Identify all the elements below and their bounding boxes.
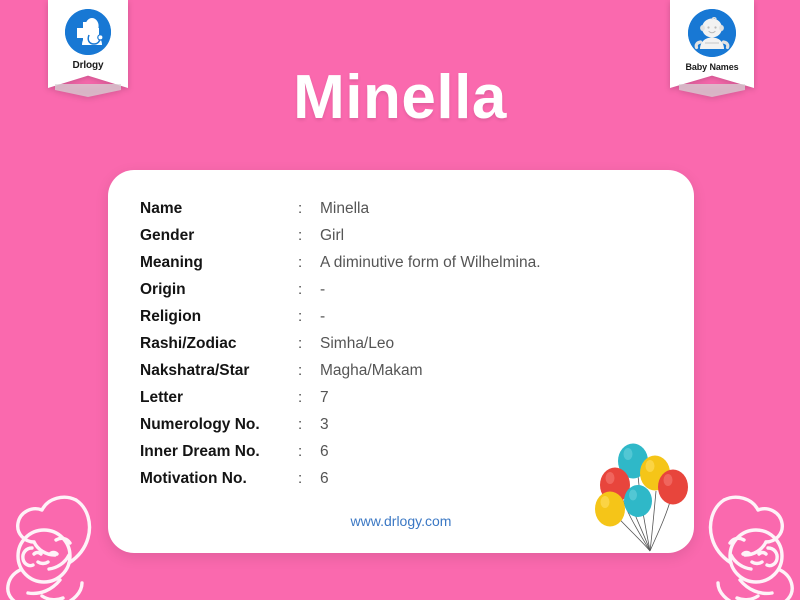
- row-separator: :: [298, 438, 320, 465]
- row-separator: :: [298, 384, 320, 411]
- row-value: 6: [320, 438, 541, 465]
- table-body: Name : Minella Gender : Girl Meaning : A…: [140, 195, 541, 492]
- table-row: Name : Minella: [140, 195, 541, 222]
- table-row: Motivation No. : 6: [140, 465, 541, 492]
- poster-canvas: Drlogy Baby Names Minella: [0, 0, 800, 600]
- name-details-card: Name : Minella Gender : Girl Meaning : A…: [108, 170, 694, 553]
- row-value: 6: [320, 465, 541, 492]
- row-label: Rashi/Zodiac: [140, 330, 298, 357]
- row-separator: :: [298, 303, 320, 330]
- mother-and-baby-icon-right: [692, 484, 800, 600]
- row-label: Meaning: [140, 249, 298, 276]
- row-label: Nakshatra/Star: [140, 357, 298, 384]
- row-value: Minella: [320, 195, 541, 222]
- table-row: Religion : -: [140, 303, 541, 330]
- row-label: Origin: [140, 276, 298, 303]
- page-title: Minella: [0, 62, 800, 133]
- balloon-bunch-icon: [594, 439, 694, 553]
- row-value: Girl: [320, 222, 541, 249]
- row-label: Religion: [140, 303, 298, 330]
- row-value: -: [320, 276, 541, 303]
- row-separator: :: [298, 195, 320, 222]
- row-label: Motivation No.: [140, 465, 298, 492]
- row-separator: :: [298, 330, 320, 357]
- row-value: A diminutive form of Wilhelmina.: [320, 249, 541, 276]
- row-value: 3: [320, 411, 541, 438]
- row-label: Letter: [140, 384, 298, 411]
- row-value: 7: [320, 384, 541, 411]
- row-separator: :: [298, 249, 320, 276]
- row-value: Magha/Makam: [320, 357, 541, 384]
- table-row: Nakshatra/Star : Magha/Makam: [140, 357, 541, 384]
- row-separator: :: [298, 222, 320, 249]
- row-value: Simha/Leo: [320, 330, 541, 357]
- row-label: Numerology No.: [140, 411, 298, 438]
- name-details-table: Name : Minella Gender : Girl Meaning : A…: [140, 195, 541, 492]
- mother-and-baby-icon-left: [0, 484, 108, 600]
- row-separator: :: [298, 276, 320, 303]
- table-row: Numerology No. : 3: [140, 411, 541, 438]
- table-row: Gender : Girl: [140, 222, 541, 249]
- row-separator: :: [298, 465, 320, 492]
- row-label: Gender: [140, 222, 298, 249]
- baby-icon: [688, 9, 736, 57]
- row-value: -: [320, 303, 541, 330]
- row-separator: :: [298, 411, 320, 438]
- table-row: Meaning : A diminutive form of Wilhelmin…: [140, 249, 541, 276]
- doctor-stethoscope-icon: [65, 9, 111, 55]
- table-row: Inner Dream No. : 6: [140, 438, 541, 465]
- row-label: Inner Dream No.: [140, 438, 298, 465]
- table-row: Letter : 7: [140, 384, 541, 411]
- table-row: Rashi/Zodiac : Simha/Leo: [140, 330, 541, 357]
- row-label: Name: [140, 195, 298, 222]
- table-row: Origin : -: [140, 276, 541, 303]
- row-separator: :: [298, 357, 320, 384]
